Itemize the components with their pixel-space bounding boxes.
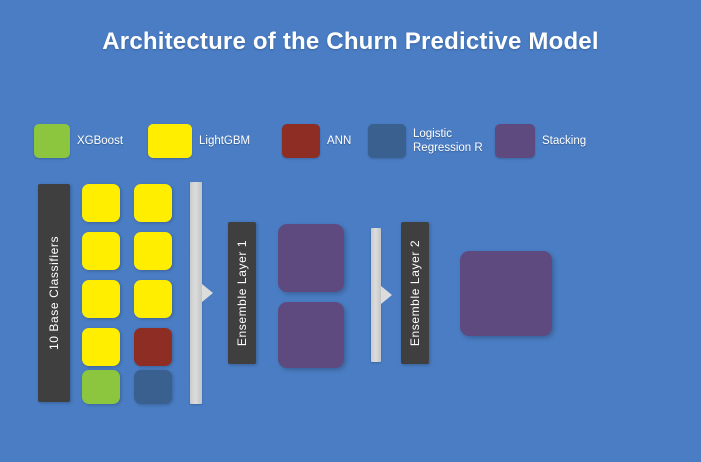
classifier-box — [134, 232, 172, 270]
connector-bar — [371, 228, 381, 362]
classifier-box — [134, 370, 172, 404]
architecture-diagram: 10 Base Classifiers Ensemble Layer 1 — [0, 0, 701, 462]
ensemble-layer-1-block — [278, 224, 344, 292]
classifier-box — [134, 184, 172, 222]
classifier-box — [82, 232, 120, 270]
classifier-box — [82, 328, 120, 366]
classifier-box — [82, 280, 120, 318]
classifier-box — [134, 280, 172, 318]
stage-bar-base-classifiers-label: 10 Base Classifiers — [47, 236, 61, 350]
classifier-box — [134, 328, 172, 366]
stage-bar-ensemble-layer-1: Ensemble Layer 1 — [228, 222, 256, 364]
classifier-box — [82, 184, 120, 222]
stage-bar-ensemble-layer-2: Ensemble Layer 2 — [401, 222, 429, 364]
arrow-layer1-to-layer2 — [371, 228, 381, 362]
arrow-head-icon — [381, 286, 392, 304]
classifier-box — [82, 370, 120, 404]
connector-bar — [190, 182, 202, 404]
arrow-base-to-layer1 — [190, 182, 202, 404]
arrow-head-icon — [202, 284, 213, 302]
stage-bar-base-classifiers: 10 Base Classifiers — [38, 184, 70, 402]
stage-bar-ensemble-layer-2-label: Ensemble Layer 2 — [408, 240, 422, 346]
ensemble-layer-2-block — [460, 251, 552, 336]
stage-bar-ensemble-layer-1-label: Ensemble Layer 1 — [235, 240, 249, 346]
ensemble-layer-1-block — [278, 302, 344, 368]
